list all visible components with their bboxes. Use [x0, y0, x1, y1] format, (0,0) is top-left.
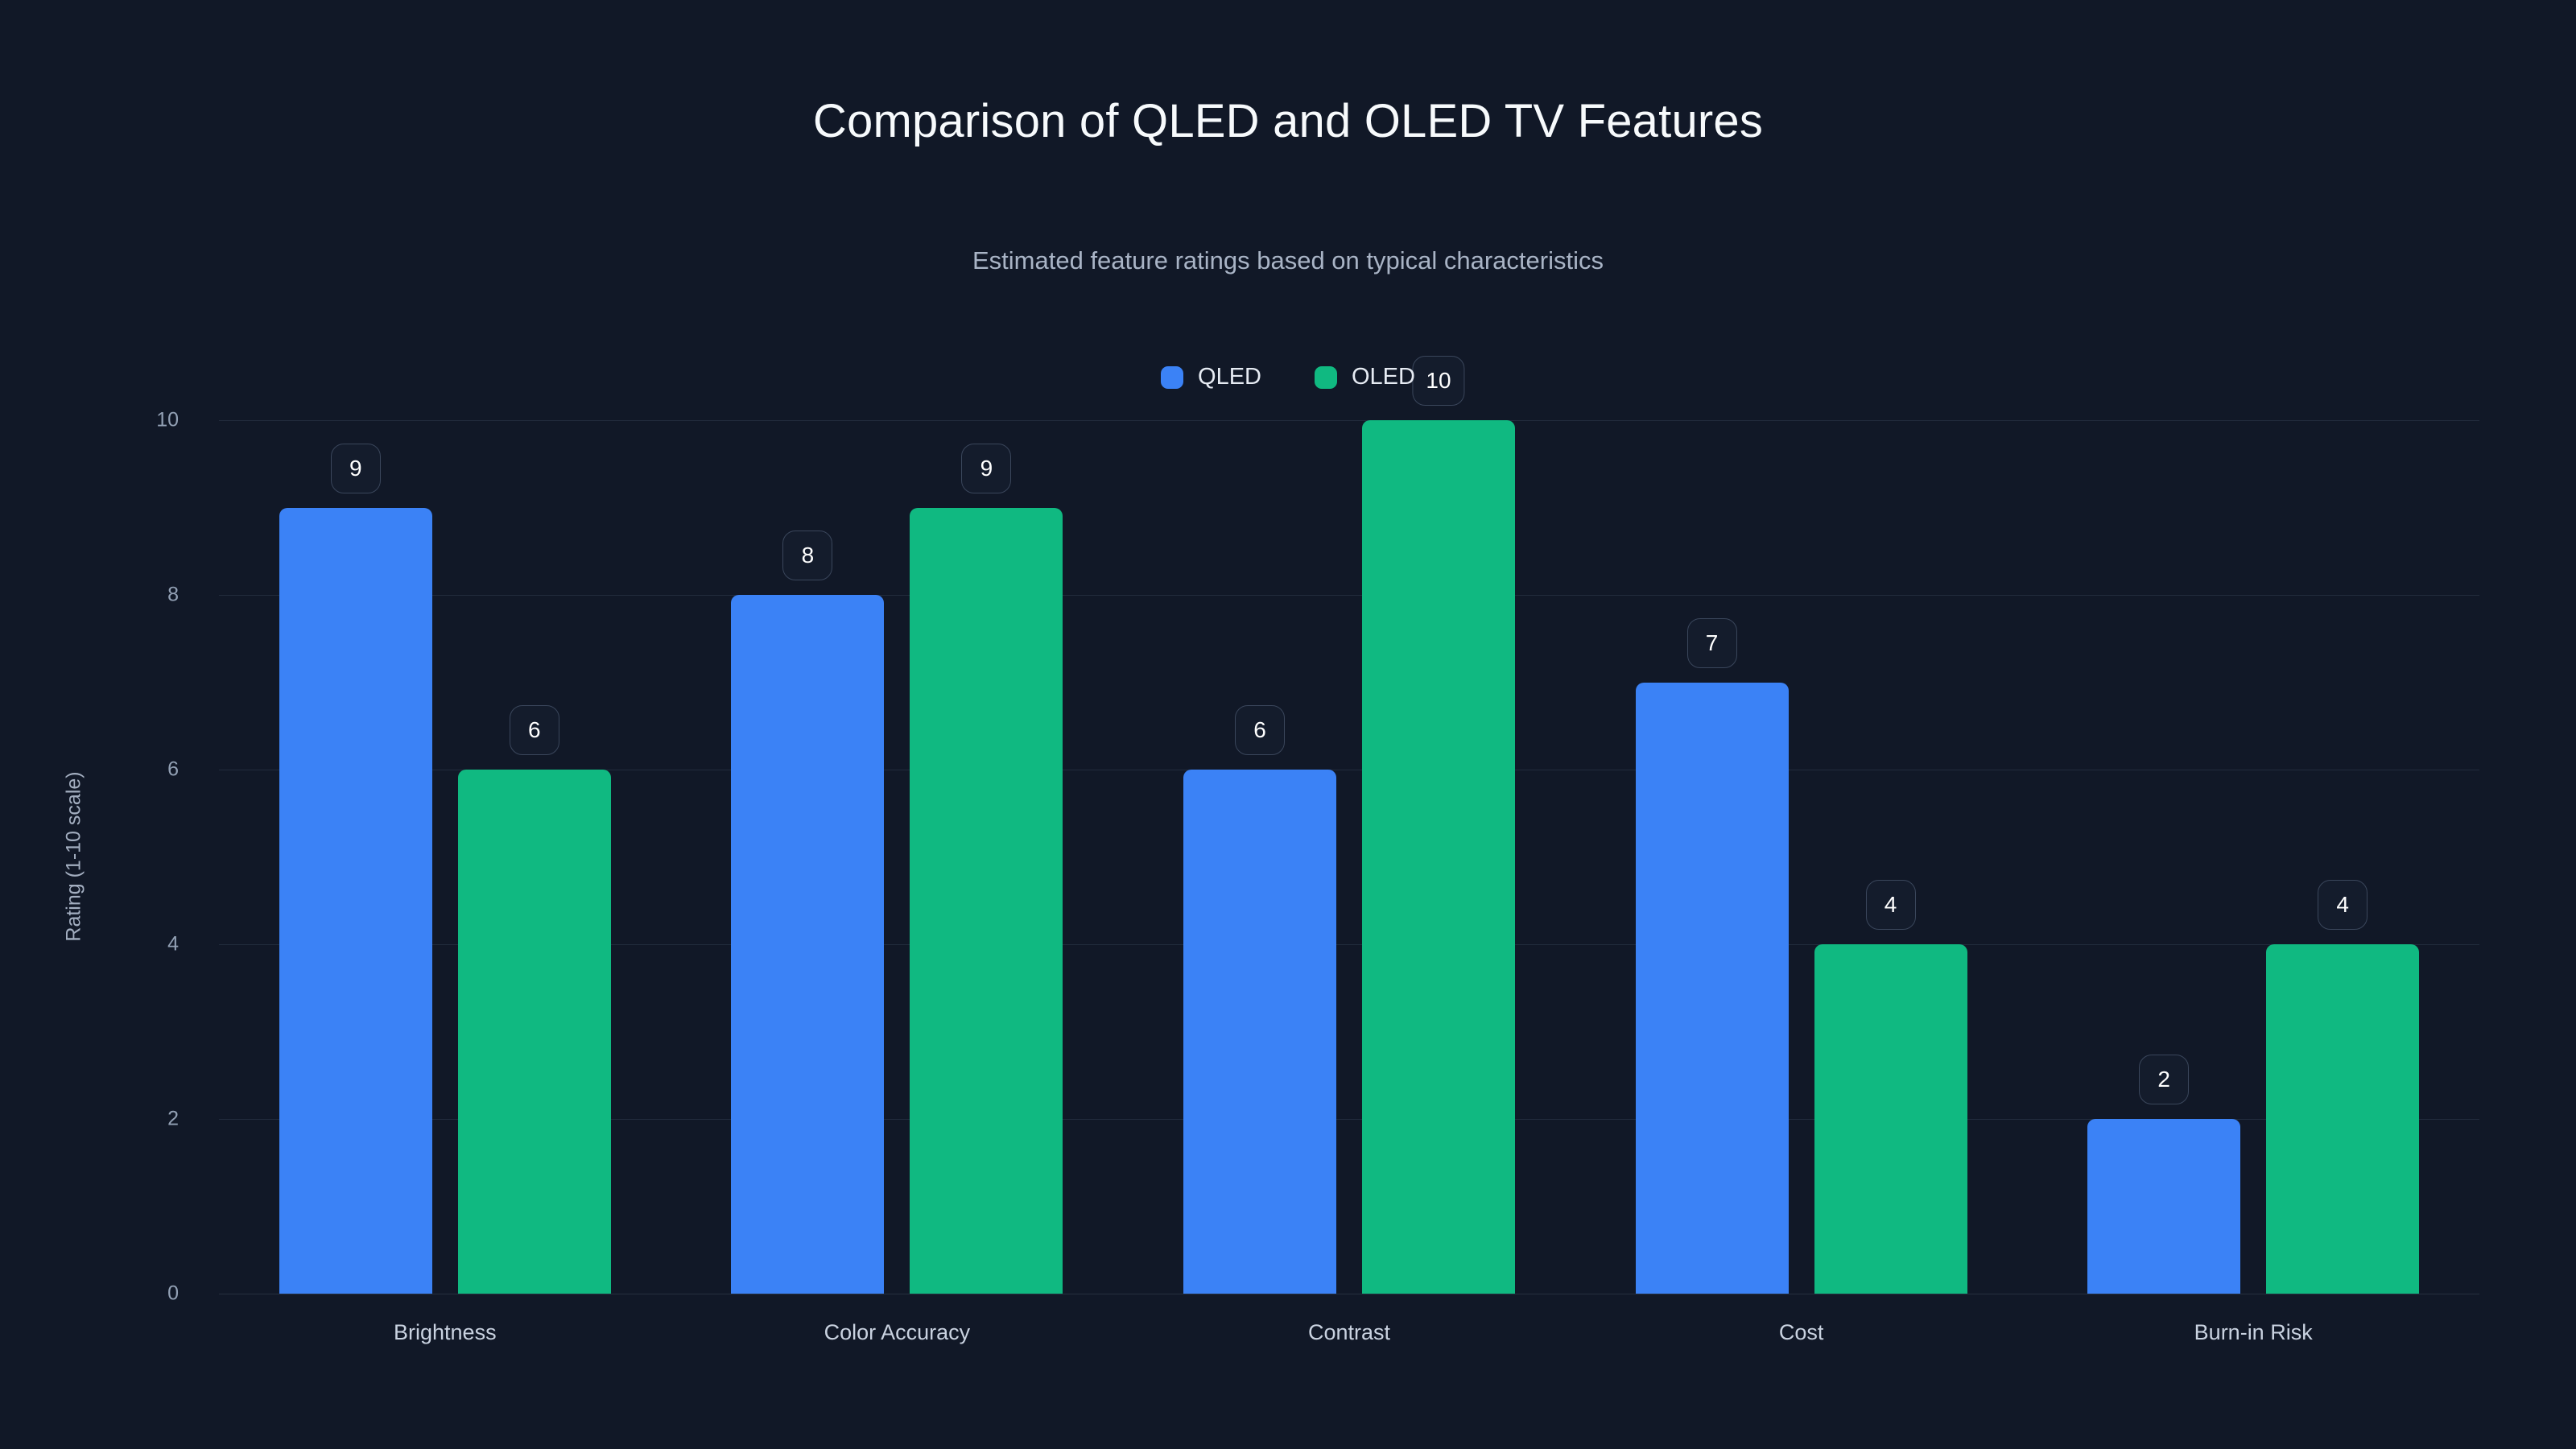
data-label-badge: 9: [961, 444, 1011, 493]
x-axis-tick-labels: BrightnessColor AccuracyContrastCostBurn…: [219, 1320, 2479, 1368]
data-label-badge: 8: [782, 530, 832, 580]
data-label-badge: 4: [2318, 880, 2368, 930]
chart-title: Comparison of QLED and OLED TV Features: [0, 95, 2576, 149]
x-tick-label: Burn-in Risk: [2194, 1320, 2313, 1345]
y-tick-label: 8: [167, 584, 179, 607]
legend-swatch-qled-icon: [1161, 366, 1183, 389]
y-tick-label: 2: [167, 1108, 179, 1131]
bar-oled-cost[interactable]: [1814, 944, 1967, 1294]
data-label-badge: 6: [510, 705, 559, 755]
y-tick-label: 4: [167, 933, 179, 956]
bar-qled-brightness[interactable]: [279, 508, 432, 1294]
legend-label: QLED: [1198, 364, 1261, 390]
bar-qled-cost[interactable]: [1636, 683, 1789, 1294]
bar-qled-color-accuracy[interactable]: [731, 595, 884, 1294]
data-label-badge: 4: [1866, 880, 1916, 930]
data-label-badge: 7: [1687, 618, 1737, 668]
legend-swatch-oled-icon: [1315, 366, 1337, 389]
legend-item-oled[interactable]: OLED: [1315, 364, 1415, 390]
data-label-badge: 2: [2139, 1055, 2189, 1104]
x-tick-label: Cost: [1779, 1320, 1824, 1345]
y-tick-label: 10: [156, 409, 179, 432]
bar-oled-burn-in-risk[interactable]: [2266, 944, 2419, 1294]
data-label-badge: 9: [331, 444, 381, 493]
bar-oled-brightness[interactable]: [458, 770, 611, 1294]
bar-oled-contrast[interactable]: [1362, 420, 1515, 1294]
x-tick-label: Contrast: [1308, 1320, 1390, 1345]
y-axis-tick-labels: 0246810: [0, 420, 203, 1294]
legend-item-qled[interactable]: QLED: [1161, 364, 1261, 390]
bar-qled-contrast[interactable]: [1183, 770, 1336, 1294]
x-tick-label: Brightness: [394, 1320, 497, 1345]
y-tick-label: 6: [167, 758, 179, 782]
chart-subtitle: Estimated feature ratings based on typic…: [0, 246, 2576, 275]
legend-label: OLED: [1352, 364, 1415, 390]
y-tick-label: 0: [167, 1282, 179, 1306]
chart-canvas: Comparison of QLED and OLED TV Features …: [0, 0, 2576, 1449]
bars-layer: 96896107424: [219, 420, 2479, 1294]
bar-qled-burn-in-risk[interactable]: [2087, 1119, 2240, 1294]
data-label-badge: 6: [1235, 705, 1285, 755]
gridline: [219, 1294, 2479, 1294]
x-tick-label: Color Accuracy: [824, 1320, 971, 1345]
chart-legend: QLEDOLED: [0, 364, 2576, 390]
bar-oled-color-accuracy[interactable]: [910, 508, 1063, 1294]
